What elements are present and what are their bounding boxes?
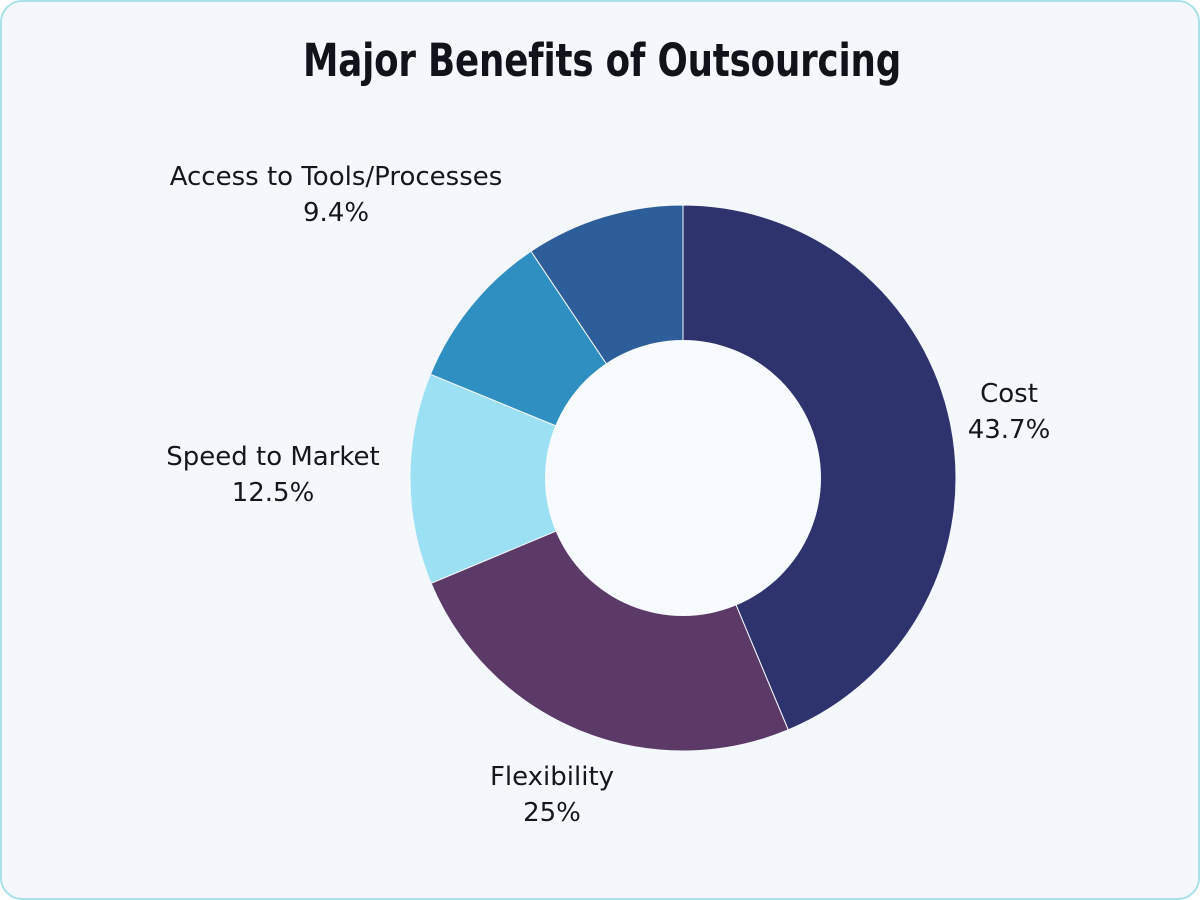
slice-label-cost-value: 43.7% xyxy=(952,413,1066,449)
chart-title: Major Benefits of Outsourcing xyxy=(74,34,1130,87)
slice-label-cost: Cost 43.7% xyxy=(952,377,1066,448)
donut-chart xyxy=(410,205,956,751)
slice-label-access-to-tools: Access to Tools/Processes 9.4% xyxy=(148,160,524,231)
slice-label-access-to-tools-value: 9.4% xyxy=(148,196,524,232)
slice-label-flexibility-value: 25% xyxy=(452,796,652,832)
slice-label-flexibility: Flexibility 25% xyxy=(452,760,652,831)
slice-label-speed-to-market: Speed to Market 12.5% xyxy=(152,440,394,511)
slice-label-speed-to-market-name: Speed to Market xyxy=(152,440,394,476)
slice-label-flexibility-name: Flexibility xyxy=(452,760,652,796)
chart-canvas: Major Benefits of Outsourcing Cost 43.7%… xyxy=(0,0,1200,900)
slice-label-speed-to-market-value: 12.5% xyxy=(152,476,394,512)
donut-hole xyxy=(545,340,821,616)
donut-svg xyxy=(410,205,956,751)
slice-label-access-to-tools-name: Access to Tools/Processes xyxy=(148,160,524,196)
slice-label-cost-name: Cost xyxy=(952,377,1066,413)
